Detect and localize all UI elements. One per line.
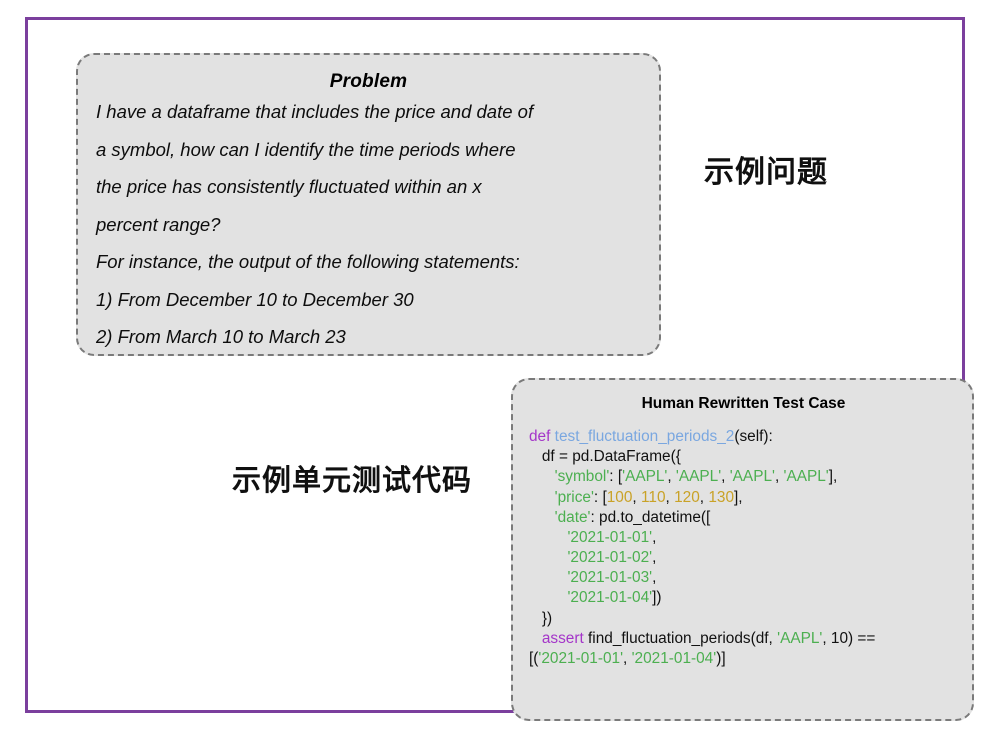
- annotation-example-unit-test-code: 示例单元测试代码: [232, 457, 472, 499]
- code-token-plain: ,: [652, 529, 656, 546]
- problem-line: I have a dataframe that includes the pri…: [96, 103, 641, 122]
- code-token-plain: ,: [667, 468, 676, 485]
- code-token-plain: [529, 569, 567, 586]
- code-token-plain: [529, 468, 555, 485]
- code-token-str: 'AAPL': [622, 468, 667, 485]
- code-token-plain: [(: [529, 650, 538, 667]
- code-token-str: '2021-01-01': [538, 650, 623, 667]
- code-token-kw: assert: [542, 630, 584, 647]
- code-token-str: 'date': [555, 509, 591, 526]
- code-token-plain: , 10) ==: [822, 630, 875, 647]
- code-token-str: '2021-01-04': [567, 589, 652, 606]
- code-token-str: 'AAPL': [777, 630, 822, 647]
- problem-line: a symbol, how can I identify the time pe…: [96, 141, 641, 160]
- code-token-plain: ,: [652, 569, 656, 586]
- code-token-str: 'price': [555, 489, 594, 506]
- code-token-num: 110: [641, 489, 666, 506]
- code-line: '2021-01-03',: [529, 568, 958, 588]
- code-token-plain: }): [529, 610, 552, 627]
- code-token-plain: ],: [829, 468, 838, 485]
- code-token-plain: find_fluctuation_periods(df,: [584, 630, 777, 647]
- code-token-str: '2021-01-02': [567, 549, 652, 566]
- code-token-plain: )]: [716, 650, 725, 667]
- code-line: assert find_fluctuation_periods(df, 'AAP…: [529, 629, 958, 649]
- code-token-plain: ,: [632, 489, 641, 506]
- code-token-str: 'AAPL': [676, 468, 721, 485]
- code-token-plain: [529, 549, 567, 566]
- code-token-plain: ]): [652, 589, 661, 606]
- code-token-plain: df = pd.DataFrame({: [529, 448, 681, 465]
- code-token-plain: : [: [594, 489, 607, 506]
- code-token-plain: [529, 630, 542, 647]
- code-token-plain: ],: [734, 489, 743, 506]
- code-token-plain: : pd.to_datetime([: [591, 509, 711, 526]
- code-line: '2021-01-04']): [529, 588, 958, 608]
- problem-line: percent range?: [96, 216, 641, 235]
- code-token-plain: ,: [652, 549, 656, 566]
- problem-line: For instance, the output of the followin…: [96, 253, 641, 272]
- code-token-str: 'AAPL': [730, 468, 775, 485]
- problem-line: 2) From March 10 to March 23: [96, 328, 641, 347]
- code-token-plain: : [: [609, 468, 622, 485]
- code-token-plain: (self):: [734, 428, 772, 445]
- code-line: def test_fluctuation_periods_2(self):: [529, 427, 958, 447]
- code-line: '2021-01-02',: [529, 548, 958, 568]
- code-token-str: 'AAPL': [784, 468, 829, 485]
- code-line: }): [529, 609, 958, 629]
- annotation-example-question: 示例问题: [704, 147, 828, 191]
- code-line: 'date': pd.to_datetime([: [529, 508, 958, 528]
- problem-line: 1) From December 10 to December 30: [96, 291, 641, 310]
- code-token-plain: [529, 489, 555, 506]
- code-token-plain: [529, 529, 567, 546]
- code-token-plain: ,: [623, 650, 632, 667]
- code-token-str: '2021-01-03': [567, 569, 652, 586]
- outer-purple-frame: Problem I have a dataframe that includes…: [25, 17, 965, 713]
- test-case-title: Human Rewritten Test Case: [529, 395, 958, 413]
- code-line: 'symbol': ['AAPL', 'AAPL', 'AAPL', 'AAPL…: [529, 467, 958, 487]
- code-token-num: 130: [708, 489, 734, 506]
- code-line: [('2021-01-01', '2021-01-04')]: [529, 649, 958, 669]
- code-token-kw: def: [529, 428, 555, 445]
- code-token-plain: ,: [721, 468, 730, 485]
- test-case-card: Human Rewritten Test Case def test_fluct…: [511, 378, 974, 721]
- problem-line: the price has consistently fluctuated wi…: [96, 178, 641, 197]
- test-case-code-block: def test_fluctuation_periods_2(self): df…: [529, 427, 958, 669]
- problem-text: I have a dataframe that includes the pri…: [96, 103, 641, 347]
- code-token-num: 120: [674, 489, 700, 506]
- code-line: df = pd.DataFrame({: [529, 447, 958, 467]
- code-token-plain: [529, 509, 555, 526]
- code-token-num: 100: [607, 489, 633, 506]
- problem-card: Problem I have a dataframe that includes…: [76, 53, 661, 356]
- code-token-fn: test_fluctuation_periods_2: [555, 428, 735, 445]
- code-token-plain: [529, 589, 567, 606]
- problem-title: Problem: [96, 71, 641, 93]
- code-token-str: '2021-01-04': [632, 650, 717, 667]
- code-line: 'price': [100, 110, 120, 130],: [529, 488, 958, 508]
- code-token-plain: ,: [666, 489, 675, 506]
- code-token-str: 'symbol': [555, 468, 610, 485]
- code-line: '2021-01-01',: [529, 528, 958, 548]
- code-token-plain: ,: [775, 468, 784, 485]
- code-token-str: '2021-01-01': [567, 529, 652, 546]
